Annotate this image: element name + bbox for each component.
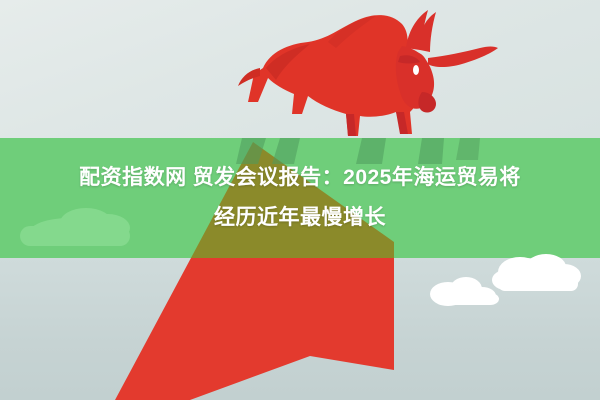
headline-text: 配资指数网贸发会议报告：2025年海运贸易将 经历近年最慢增长 (0, 158, 600, 238)
site-brand-name: 配资指数网 (79, 166, 187, 189)
bull-illustration (236, 6, 508, 146)
headline-line-1: 配资指数网贸发会议报告：2025年海运贸易将 (0, 158, 600, 198)
headline-line-2: 经历近年最慢增长 (0, 198, 600, 238)
stock-news-banner: 配资指数网贸发会议报告：2025年海运贸易将 经历近年最慢增长 (0, 0, 600, 400)
cloud-shape (490, 254, 586, 296)
headline-line-1-text: 贸发会议报告：2025年海运贸易将 (193, 166, 521, 189)
